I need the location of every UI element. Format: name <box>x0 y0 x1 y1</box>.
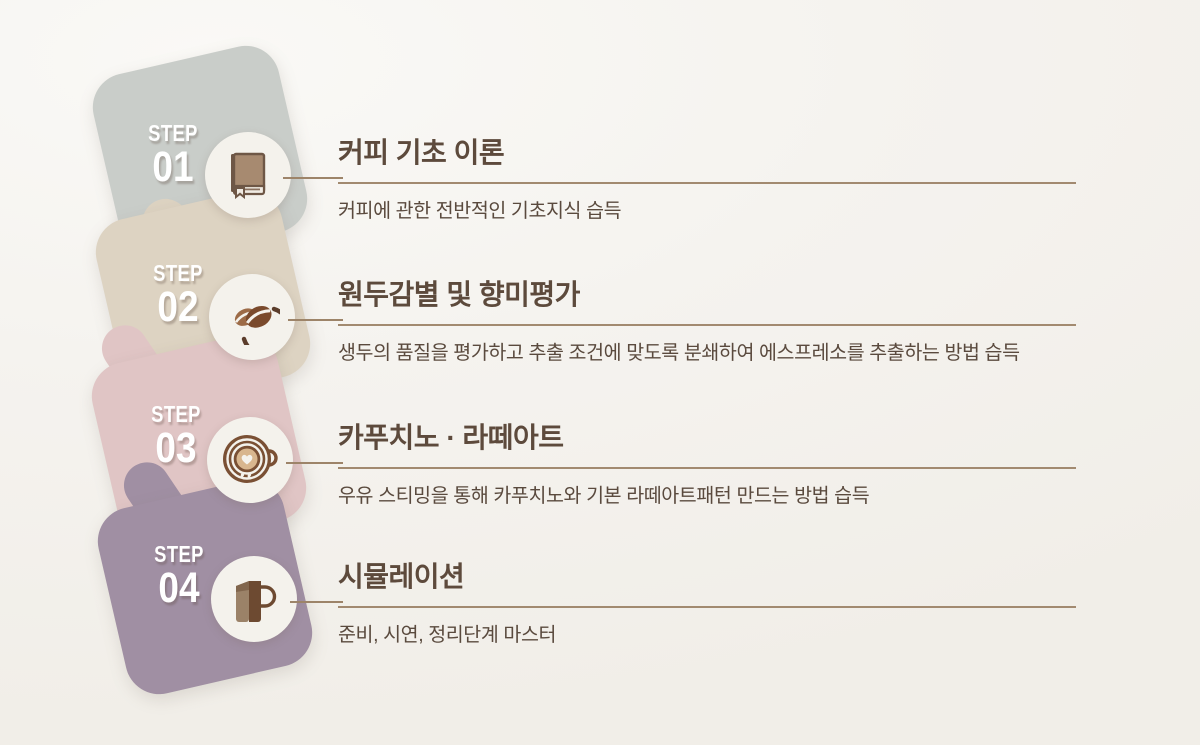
step-description-01: 커피에 관한 전반적인 기초지식 습득 <box>338 197 1076 225</box>
step-title-04: 시뮬레이션 <box>338 555 1076 595</box>
infographic-canvas: STEP 01 STEP 02 STEP 03 STEP 04 <box>0 0 1200 745</box>
step-title-02: 원두감별 및 향미평가 <box>338 273 1076 313</box>
step-description-04: 준비, 시연, 정리단계 마스터 <box>338 621 1076 649</box>
step-icon-badge-03[interactable] <box>207 417 293 503</box>
step-icon-badge-01[interactable] <box>205 132 291 218</box>
title-rule-03 <box>338 467 1076 469</box>
step-label-03: STEP 03 <box>136 403 216 470</box>
title-rule-01 <box>338 182 1076 184</box>
connector-line-02 <box>288 319 343 321</box>
step-label-02: STEP 02 <box>138 262 218 329</box>
step-text-block-01: 커피 기초 이론 커피에 관한 전반적인 기초지식 습득 <box>338 131 1076 225</box>
connector-line-01 <box>283 177 343 179</box>
connector-line-03 <box>286 462 343 464</box>
step-word-01: STEP <box>141 122 205 145</box>
latte-art-cup-icon <box>221 433 279 487</box>
book-icon <box>225 151 271 199</box>
coffee-bean-icon <box>224 289 280 345</box>
step-description-03: 우유 스티밍을 통해 카푸치노와 기본 라떼아트패턴 만드는 방법 습득 <box>338 482 1076 510</box>
step-word-04: STEP <box>147 543 211 566</box>
step-title-03: 카푸치노 · 라떼아트 <box>338 416 1076 456</box>
title-rule-02 <box>338 324 1076 326</box>
step-text-block-03: 카푸치노 · 라떼아트 우유 스티밍을 통해 카푸치노와 기본 라떼아트패턴 만… <box>338 416 1076 510</box>
step-icon-badge-02[interactable] <box>209 274 295 360</box>
title-rule-04 <box>338 606 1076 608</box>
step-word-03: STEP <box>144 403 208 426</box>
step-number-02: 02 <box>144 286 213 329</box>
step-label-04: STEP 04 <box>139 543 219 610</box>
step-number-01: 01 <box>139 146 208 189</box>
connector-line-04 <box>290 601 343 603</box>
step-text-block-02: 원두감별 및 향미평가 생두의 품질을 평가하고 추출 조건에 맞도록 분쇄하여… <box>338 273 1076 367</box>
step-title-01: 커피 기초 이론 <box>338 131 1076 171</box>
milk-pitcher-icon <box>230 573 278 625</box>
step-word-02: STEP <box>146 262 210 285</box>
step-icon-badge-04[interactable] <box>211 556 297 642</box>
step-number-03: 03 <box>142 427 211 470</box>
step-text-block-04: 시뮬레이션 준비, 시연, 정리단계 마스터 <box>338 555 1076 649</box>
step-number-04: 04 <box>145 567 214 610</box>
step-description-02: 생두의 품질을 평가하고 추출 조건에 맞도록 분쇄하여 에스프레소를 추출하는… <box>338 339 1076 367</box>
step-label-01: STEP 01 <box>133 122 213 189</box>
